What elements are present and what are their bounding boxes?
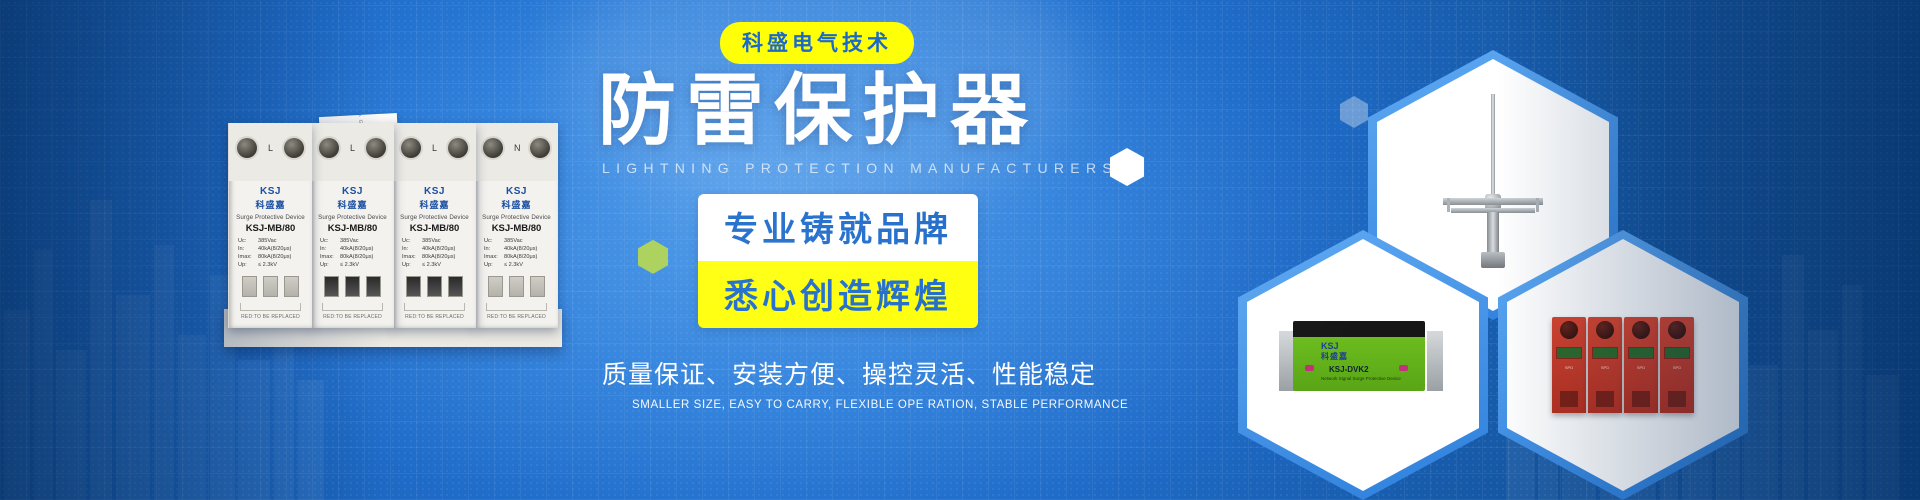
spec-key: Imax: — [238, 253, 258, 261]
clip-bracket — [322, 303, 383, 311]
spec-value: 385Vac — [258, 238, 277, 244]
din-slot — [1596, 391, 1614, 407]
status-window — [488, 276, 503, 297]
connector-bar — [1293, 321, 1425, 337]
terminal-screw-icon — [319, 138, 339, 158]
rod-arm — [1443, 198, 1543, 205]
red-spd-module: SPD — [1552, 317, 1586, 413]
status-window — [1664, 347, 1690, 359]
spec-key: Up: — [320, 261, 340, 269]
spec-value: ≤ 2.3kV — [258, 262, 277, 268]
replace-note: RED:TO BE REPLACED — [234, 314, 307, 320]
terminal-screw-icon — [483, 138, 503, 158]
spd-terminal-top: L — [311, 123, 394, 181]
device-type: Surge Protective Device — [398, 214, 471, 221]
spec-value: ≤ 2.3kV — [340, 262, 359, 268]
device-model: KSJ-MB/80 — [480, 223, 553, 234]
brand-badge: 科盛电气技术 — [720, 22, 914, 64]
decorative-hexagon-icon — [1340, 96, 1368, 128]
clip-bracket — [240, 303, 301, 311]
rod-spoke — [1536, 198, 1539, 212]
spd-terminal-top: N — [475, 123, 558, 181]
spec-value: 385Vac — [340, 238, 359, 244]
status-window — [1592, 347, 1618, 359]
brand-logo-cn: 科盛嘉 — [480, 198, 553, 211]
module-label: SPD — [1588, 365, 1622, 370]
rod-stem — [1487, 212, 1499, 256]
device-description: Network Signal Surge Protective Device — [1321, 376, 1401, 381]
spec-key: Up: — [484, 261, 504, 269]
pole-mark: L — [432, 143, 437, 153]
module-label: SPD — [1660, 365, 1694, 370]
rod-mast — [1491, 94, 1495, 202]
spec-key: Uc: — [484, 237, 504, 245]
hexagon-inner: SPD SPD SPD — [1507, 239, 1739, 491]
pole-mark: L — [268, 143, 273, 153]
terminal-screw-icon — [401, 138, 421, 158]
brand-logo-cn: 科盛嘉 — [1321, 351, 1348, 362]
terminal-screw-icon — [1560, 321, 1578, 339]
lightning-rod-icon — [1433, 94, 1553, 274]
din-slot — [1560, 391, 1578, 407]
terminal-screw-icon — [366, 138, 386, 158]
led-indicator — [1305, 365, 1314, 371]
spec-value: 385Vac — [504, 238, 523, 244]
spec-key: Uc: — [402, 237, 422, 245]
spec-list: Uc:385Vac In:40kA(8/20μs) Imax:80kA(8/20… — [484, 237, 553, 269]
pole-mark: N — [514, 143, 521, 153]
status-window — [530, 276, 545, 297]
status-window — [263, 276, 278, 297]
brand-logo-cn: 科盛嘉 — [398, 198, 471, 211]
spd-terminal-top: L — [393, 123, 476, 181]
status-window — [448, 276, 463, 297]
rod-base — [1481, 252, 1505, 268]
status-window — [284, 276, 299, 297]
status-window — [1628, 347, 1654, 359]
din-slot — [1668, 391, 1686, 407]
module-label: SPD — [1624, 365, 1658, 370]
brand-logo: KSJ — [316, 187, 389, 197]
status-window — [406, 276, 421, 297]
brand-logo-cn: 科盛嘉 — [316, 198, 389, 211]
terminal-screw-icon — [448, 138, 468, 158]
brand-logo-cn: 科盛嘉 — [234, 198, 307, 211]
spec-value: ≤ 2.3kV — [422, 262, 441, 268]
status-window — [324, 276, 339, 297]
pole-mark: L — [350, 143, 355, 153]
replace-note: RED:TO BE REPLACED — [480, 314, 553, 320]
brand-logo: KSJ — [234, 187, 307, 197]
spec-value: 80kA(8/20μs) — [258, 254, 291, 260]
status-window — [1556, 347, 1582, 359]
spec-value: 40kA(8/20μs) — [504, 246, 537, 252]
status-window — [366, 276, 381, 297]
spec-key: Imax: — [402, 253, 422, 261]
slogan-line-1: 专业铸就品牌 — [698, 194, 978, 261]
device-type: Surge Protective Device — [234, 214, 307, 221]
terminal-screw-icon — [1596, 321, 1614, 339]
spec-key: Up: — [402, 261, 422, 269]
status-window — [345, 276, 360, 297]
red-spd-module: SPD — [1660, 317, 1694, 413]
device-model: KSJ-DVK2 — [1329, 365, 1369, 374]
spd-module: L KSJ 科盛嘉 Surge Protective Device KSJ-MB… — [310, 123, 394, 328]
spec-key: Imax: — [484, 253, 504, 261]
spd-module: L KSJ 科盛嘉 Surge Protective Device KSJ-MB… — [228, 123, 312, 328]
terminal-screw-icon — [1632, 321, 1650, 339]
terminal-screw-icon — [284, 138, 304, 158]
terminal-screw-icon — [1668, 321, 1686, 339]
slogan-block: 专业铸就品牌 悉心创造辉煌 — [590, 194, 1310, 333]
din-slot — [1632, 391, 1650, 407]
slogan-card: 专业铸就品牌 悉心创造辉煌 — [698, 194, 978, 328]
spec-key: In: — [320, 245, 340, 253]
spec-key: Uc: — [320, 237, 340, 245]
features-english: SMALLER SIZE, EASY TO CARRY, FLEXIBLE OP… — [590, 399, 1310, 411]
brand-logo: KSJ — [398, 187, 471, 197]
hexagon-inner: KSJ 科盛嘉 KSJ-DVK2 Network Signal Surge Pr… — [1247, 239, 1479, 491]
product-hexagon-cluster: KSJ 科盛嘉 KSJ-DVK2 Network Signal Surge Pr… — [1230, 40, 1790, 460]
rod-spoke — [1447, 198, 1450, 212]
spec-value: 80kA(8/20μs) — [422, 254, 455, 260]
spec-key: In: — [238, 245, 258, 253]
spec-list: Uc:385Vac In:40kA(8/20μs) Imax:80kA(8/20… — [402, 237, 471, 269]
device-model: KSJ-MB/80 — [234, 223, 307, 234]
spd-module: N KSJ 科盛嘉 Surge Protective Device KSJ-MB… — [474, 123, 558, 328]
device-type: Surge Protective Device — [480, 214, 553, 221]
spec-value: 385Vac — [422, 238, 441, 244]
status-windows — [480, 276, 553, 297]
spec-list: Uc:385Vac In:40kA(8/20μs) Imax:80kA(8/20… — [238, 237, 307, 269]
status-window — [509, 276, 524, 297]
brand-logo: KSJ — [480, 187, 553, 197]
device-type: Surge Protective Device — [316, 214, 389, 221]
red-spd-module: SPD — [1588, 317, 1622, 413]
clip-bracket — [404, 303, 465, 311]
status-windows — [316, 276, 389, 297]
device-model: KSJ-MB/80 — [316, 223, 389, 234]
hexagon-accent-icon — [638, 240, 668, 274]
slogan-line-2: 悉心创造辉煌 — [698, 261, 978, 328]
terminal-screw-icon — [237, 138, 257, 158]
spec-value: 80kA(8/20μs) — [340, 254, 373, 260]
replace-note: RED:TO BE REPLACED — [316, 314, 389, 320]
spd-module-group: L KSJ 科盛嘉 Surge Protective Device KSJ-MB… — [228, 123, 558, 338]
spec-list: Uc:385Vac In:40kA(8/20μs) Imax:80kA(8/20… — [320, 237, 389, 269]
spec-key: In: — [484, 245, 504, 253]
red-spd-stack: SPD SPD SPD — [1552, 317, 1694, 413]
network-spd-module: KSJ 科盛嘉 KSJ-DVK2 Network Signal Surge Pr… — [1279, 321, 1447, 393]
spec-value: 80kA(8/20μs) — [504, 254, 537, 260]
module-label: SPD — [1552, 365, 1586, 370]
brand-logo: KSJ — [1321, 341, 1339, 351]
headline-block: 科盛电气技术 防雷保护器 LIGHTNING PROTECTION MANUFA… — [590, 22, 1310, 411]
spd-module: L KSJ 科盛嘉 Surge Protective Device KSJ-MB… — [392, 123, 476, 328]
spec-key: In: — [402, 245, 422, 253]
terminal-screw-icon — [530, 138, 550, 158]
pcb-board — [1293, 333, 1425, 391]
led-indicator — [1399, 365, 1408, 371]
replace-note: RED:TO BE REPLACED — [398, 314, 471, 320]
page-title: 防雷保护器 — [590, 70, 1310, 152]
spec-key: Imax: — [320, 253, 340, 261]
subtitle-english: LIGHTNING PROTECTION MANUFACTURERS — [590, 160, 1310, 176]
device-model: KSJ-MB/80 — [398, 223, 471, 234]
spec-value: ≤ 2.3kV — [504, 262, 523, 268]
promo-banner: L KSJ 科盛嘉 Surge Protective Device KSJ-MB… — [0, 0, 1920, 500]
mount-bracket — [1427, 331, 1443, 391]
spec-value: 40kA(8/20μs) — [422, 246, 455, 252]
status-windows — [234, 276, 307, 297]
spec-key: Up: — [238, 261, 258, 269]
spec-value: 40kA(8/20μs) — [340, 246, 373, 252]
clip-bracket — [486, 303, 547, 311]
red-spd-module: SPD — [1624, 317, 1658, 413]
status-windows — [398, 276, 471, 297]
status-window — [242, 276, 257, 297]
spec-key: Uc: — [238, 237, 258, 245]
spec-value: 40kA(8/20μs) — [258, 246, 291, 252]
features-chinese: 质量保证、安装方便、操控灵活、性能稳定 — [590, 355, 1310, 391]
status-window — [427, 276, 442, 297]
spd-terminal-top: L — [229, 123, 312, 181]
